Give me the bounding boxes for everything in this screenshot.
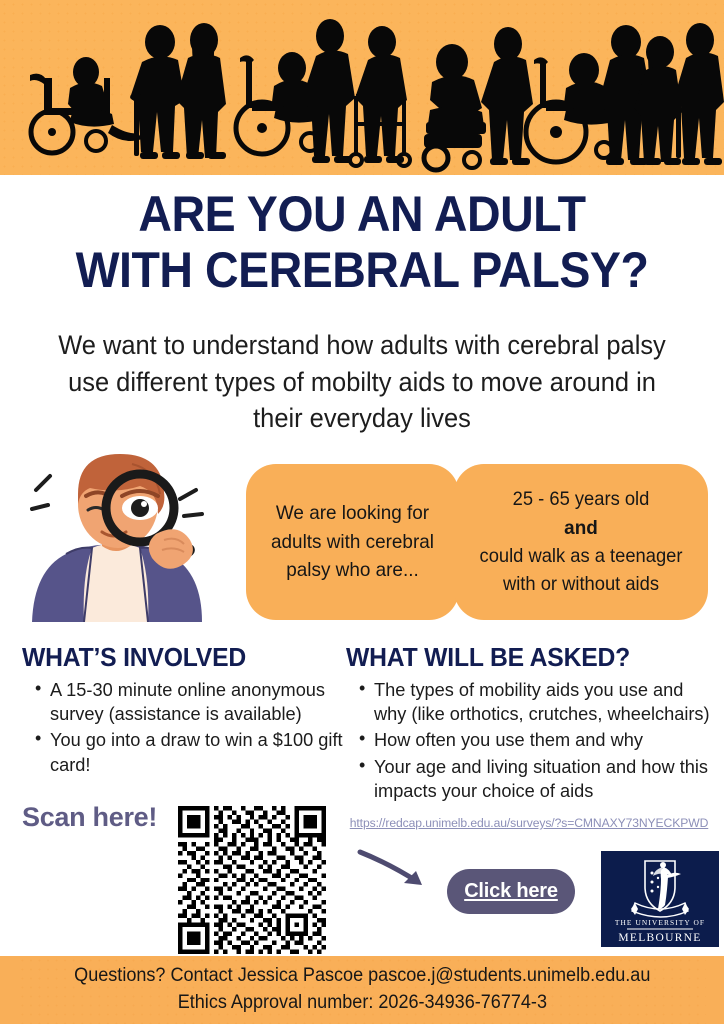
- silhouette-standing-1: [176, 23, 226, 159]
- subtitle: We want to understand how adults with ce…: [47, 327, 677, 437]
- poster-root: ARE YOU AN ADULT WITH CEREBRAL PALSY? We…: [0, 0, 724, 1024]
- silhouette-banner: [0, 0, 724, 175]
- criteria-bubble-1: We are looking for adults with cerebral …: [246, 464, 459, 620]
- silhouette-standing-5: [634, 36, 682, 165]
- list-item: A 15-30 minute online anonymous survey (…: [50, 678, 350, 726]
- person-with-magnifier-icon: [14, 452, 246, 622]
- criteria-walk-clause: could walk as a teenager with or without…: [475, 542, 688, 599]
- criteria-bubble-2: 25 - 65 years old and could walk as a te…: [454, 464, 708, 620]
- list-item: You go into a draw to win a $100 gift ca…: [50, 728, 350, 776]
- scan-here-label: Scan here!: [22, 802, 157, 833]
- silhouette-walker-user: [350, 26, 410, 166]
- criteria-bubble-2-text: 25 - 65 years old and could walk as a te…: [471, 485, 690, 599]
- magnifying-glass-illustration: [14, 452, 246, 622]
- click-here-label: Click here: [464, 880, 558, 903]
- survey-url-link[interactable]: https://redcap.unimelb.edu.au/surveys/?s…: [348, 816, 711, 830]
- silhouette-wheelchair-3: [526, 53, 614, 162]
- what-will-be-asked-list: The types of mobility aids you use and w…: [354, 678, 720, 805]
- silhouette-standing-2: [303, 19, 355, 163]
- whats-involved-heading: WHAT’S INVOLVED: [22, 642, 246, 673]
- criteria-bubbles: We are looking for adults with cerebral …: [246, 464, 708, 620]
- silhouette-cane-user: [130, 25, 185, 159]
- footer: Questions? Contact Jessica Pascoe pascoe…: [0, 956, 724, 1024]
- whats-involved-list: A 15-30 minute online anonymous survey (…: [30, 678, 350, 779]
- headline-line-1: ARE YOU AN ADULT: [25, 186, 698, 242]
- silhouette-wheelchair-1: [30, 57, 142, 153]
- criteria-and-emphasis: and: [564, 517, 598, 539]
- what-will-be-asked-heading: WHAT WILL BE ASKED?: [346, 642, 630, 673]
- curved-arrow-icon: [356, 848, 436, 898]
- logo-line-1-text: THE UNIVERSITY OF: [615, 918, 705, 927]
- click-here-button[interactable]: Click here: [447, 869, 575, 914]
- list-item: How often you use them and why: [374, 728, 720, 752]
- criteria-age-range: 25 - 65 years old: [475, 485, 688, 513]
- silhouette-standing-3: [481, 27, 533, 165]
- university-of-melbourne-logo: THE UNIVERSITY OF MELBOURNE: [601, 851, 719, 947]
- criteria-bubble-1-text: We are looking for adults with cerebral …: [263, 499, 442, 584]
- footer-ethics: Ethics Approval number: 2026-34936-76774…: [177, 990, 546, 1017]
- uom-crest-icon: THE UNIVERSITY OF MELBOURNE: [601, 851, 719, 947]
- qr-code[interactable]: [178, 806, 326, 954]
- arrow-to-button-icon: [356, 848, 436, 898]
- footer-contact: Questions? Contact Jessica Pascoe pascoe…: [74, 963, 650, 990]
- silhouette-group: [0, 0, 724, 175]
- page-title: ARE YOU AN ADULT WITH CEREBRAL PALSY?: [25, 186, 698, 298]
- headline-line-2: WITH CEREBRAL PALSY?: [25, 242, 698, 298]
- qr-code-image: [178, 806, 326, 954]
- list-item: The types of mobility aids you use and w…: [374, 678, 720, 726]
- silhouette-cane-user-2: [674, 23, 724, 165]
- list-item: Your age and living situation and how th…: [374, 755, 720, 803]
- logo-line-2-text: MELBOURNE: [618, 932, 701, 944]
